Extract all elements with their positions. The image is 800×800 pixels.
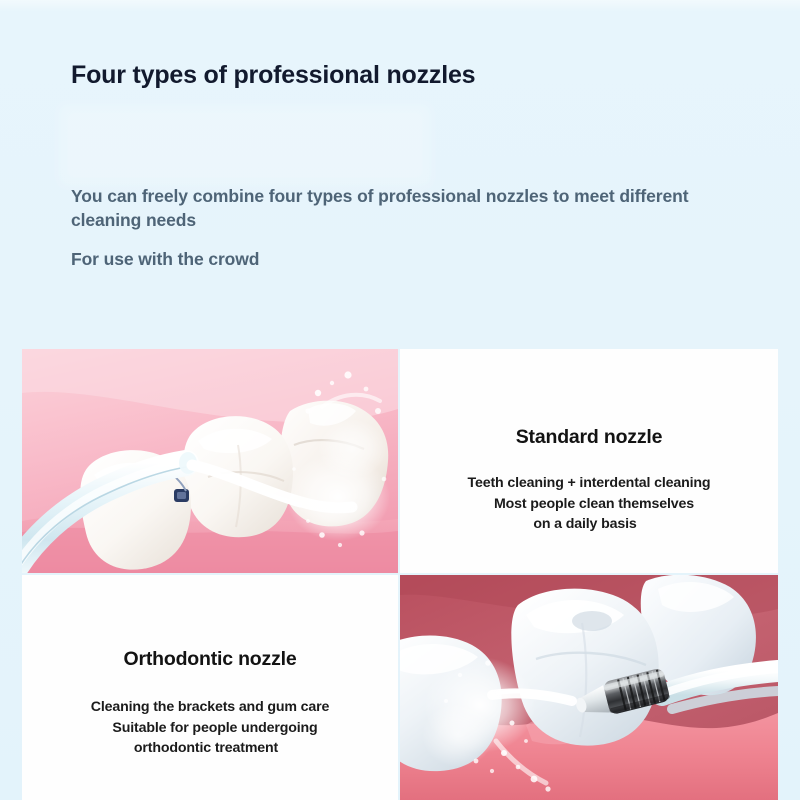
standard-nozzle-card: Standard nozzle Teeth cleaning + interde… xyxy=(400,349,778,573)
orthodontic-nozzle-title: Orthodontic nozzle xyxy=(124,648,297,671)
orthodontic-nozzle-line-1: Cleaning the brackets and gum care xyxy=(91,697,330,718)
top-gradient-wash xyxy=(0,0,800,12)
standard-demo-illustration xyxy=(400,575,778,800)
orthodontic-nozzle-card: Orthodontic nozzle Cleaning the brackets… xyxy=(22,575,398,800)
standard-nozzle-line-1: Teeth cleaning + interdental cleaning xyxy=(468,473,711,494)
orthodontic-demo-illustration xyxy=(22,349,398,573)
page-subtitle: You can freely combine four types of pro… xyxy=(71,184,711,232)
product-feature-page: Four types of professional nozzles You c… xyxy=(0,0,800,800)
orthodontic-nozzle-line-3: orthodontic treatment xyxy=(83,738,330,759)
nozzle-feature-grid: Standard nozzle Teeth cleaning + interde… xyxy=(22,349,778,800)
orthodontic-nozzle-line-2: Suitable for people undergoing xyxy=(101,718,330,739)
standard-demo-photo xyxy=(400,575,778,800)
standard-nozzle-title: Standard nozzle xyxy=(516,426,663,449)
orthodontic-demo-photo xyxy=(22,349,398,573)
orthodontic-nozzle-description: Cleaning the brackets and gum care Suita… xyxy=(91,697,330,759)
page-subtitle-secondary: For use with the crowd xyxy=(71,247,259,271)
standard-nozzle-line-3: on a daily basis xyxy=(460,514,711,535)
standard-nozzle-description: Teeth cleaning + interdental cleaning Mo… xyxy=(468,473,711,535)
standard-nozzle-line-2: Most people clean themselves xyxy=(478,494,711,515)
page-title: Four types of professional nozzles xyxy=(71,60,475,90)
header-background-wash xyxy=(60,105,430,185)
